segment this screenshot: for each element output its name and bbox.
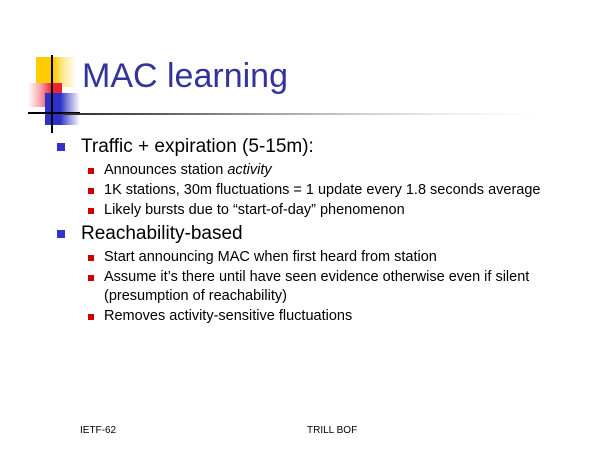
bullet-level1-label: Traffic + expiration (5-15m): bbox=[81, 136, 314, 157]
bullet-level2: Likely bursts due to “start-of-day” phen… bbox=[87, 201, 575, 220]
bullet-square-red-icon bbox=[88, 314, 94, 320]
bullet-level2-label: Likely bursts due to “start-of-day” phen… bbox=[104, 202, 405, 218]
bullet-level2-emphasis: activity bbox=[227, 162, 271, 178]
bullet-level1: Reachability-based bbox=[55, 221, 575, 246]
bullet-level2: Announces station activity bbox=[87, 161, 575, 180]
bullet-level2: Removes activity-sensitive fluctuations bbox=[87, 307, 575, 326]
bullet-level2: 1K stations, 30m fluctuations = 1 update… bbox=[87, 181, 575, 200]
slide-logo-decoration bbox=[28, 55, 80, 133]
title-divider-rule bbox=[63, 113, 540, 115]
logo-vertical-line bbox=[51, 55, 53, 133]
slide-title: MAC learning bbox=[82, 55, 288, 97]
footer-center-label: TRILL BOF bbox=[307, 424, 357, 437]
bullet-level2-group: Start announcing MAC when first heard fr… bbox=[55, 247, 575, 326]
bullet-level2-label: Announces station bbox=[104, 162, 227, 178]
bullet-square-red-icon bbox=[88, 188, 94, 194]
bullet-square-red-icon bbox=[88, 255, 94, 261]
bullet-square-blue-icon bbox=[57, 143, 65, 151]
bullet-level2-label: Start announcing MAC when first heard fr… bbox=[104, 249, 437, 265]
bullet-square-red-icon bbox=[88, 275, 94, 281]
slide-body: Traffic + expiration (5-15m):Announces s… bbox=[55, 134, 575, 327]
bullet-level2: Start announcing MAC when first heard fr… bbox=[87, 248, 575, 267]
bullet-level2-label: Removes activity-sensitive fluctuations bbox=[104, 308, 352, 324]
bullet-level2-group: Announces station activity1K stations, 3… bbox=[55, 160, 575, 220]
bullet-level1-label: Reachability-based bbox=[81, 223, 243, 244]
bullet-level2-label: Assume it’s there until have seen eviden… bbox=[104, 269, 529, 304]
footer-left-label: IETF-62 bbox=[80, 424, 116, 437]
bullet-level2-label: 1K stations, 30m fluctuations = 1 update… bbox=[104, 182, 540, 198]
bullet-square-blue-icon bbox=[57, 230, 65, 238]
bullet-level2: Assume it’s there until have seen eviden… bbox=[87, 268, 575, 306]
bullet-square-red-icon bbox=[88, 168, 94, 174]
bullet-square-red-icon bbox=[88, 208, 94, 214]
bullet-level1: Traffic + expiration (5-15m): bbox=[55, 134, 575, 159]
slide-canvas: MAC learning Traffic + expiration (5-15m… bbox=[0, 0, 600, 450]
